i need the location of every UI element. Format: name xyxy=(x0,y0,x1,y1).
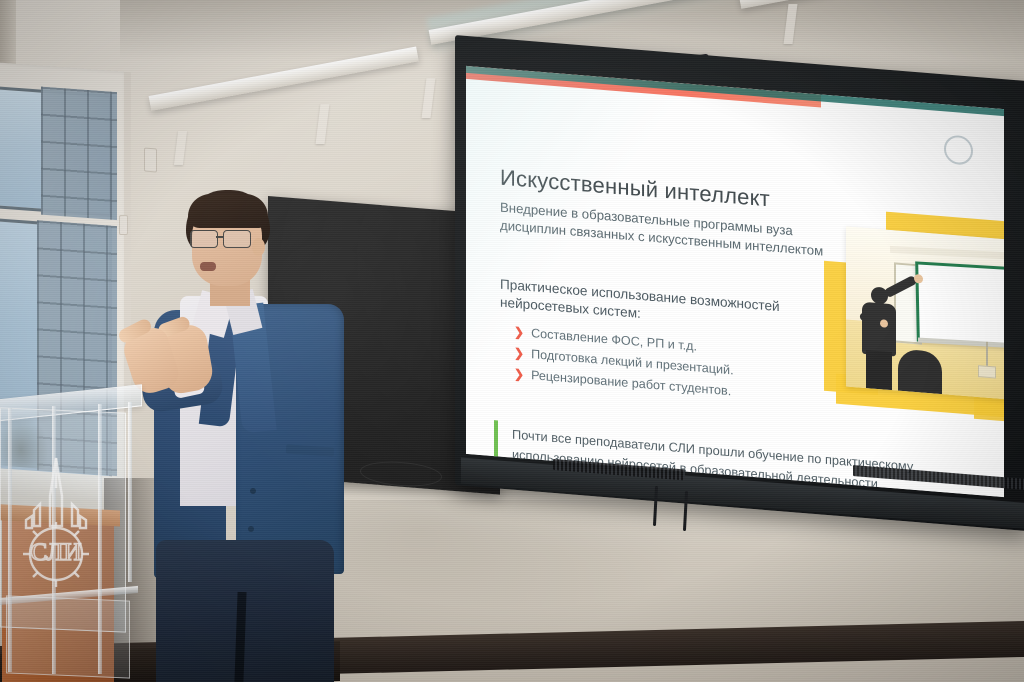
photo-interactive-whiteboard xyxy=(915,261,1004,348)
chevron-right-icon: ❯ xyxy=(514,364,524,386)
chevron-right-icon: ❯ xyxy=(514,343,524,365)
photo-cable xyxy=(986,342,988,368)
presenter-hair-front xyxy=(188,194,268,228)
presenter-mouth xyxy=(200,262,216,271)
photo-person-hand-second xyxy=(880,319,888,328)
sli-emblem-letters: СЛИ xyxy=(30,539,81,566)
photo-socket xyxy=(978,365,996,378)
eyeglass-lens-left xyxy=(190,230,218,248)
eyeglass-bridge xyxy=(216,236,223,238)
interactive-display-panel[interactable]: Искусственный интеллект Внедрение в обра… xyxy=(455,35,1024,531)
slide-photo xyxy=(824,207,1004,434)
slide-paragraph-1: Внедрение в образовательные программы ву… xyxy=(500,199,830,261)
photo-person-hand xyxy=(914,274,923,284)
presenter-jacket-button xyxy=(250,488,256,494)
eyeglass-lens-right xyxy=(223,230,251,248)
facade-grid xyxy=(41,87,117,221)
presentation-slide: Искусственный интеллект Внедрение в обра… xyxy=(466,66,1004,497)
lecture-room-screenshot: Искусственный интеллект Внедрение в обра… xyxy=(0,0,1024,682)
photo-person-legs xyxy=(866,350,892,390)
sli-emblem-icon: СЛИ xyxy=(4,454,108,594)
eyeglasses-icon xyxy=(190,230,256,246)
lectern-lower-panel xyxy=(6,595,130,678)
acrylic-lectern[interactable]: СЛИ xyxy=(0,392,146,682)
presenter-jacket-button xyxy=(248,526,254,532)
photo-content xyxy=(846,226,1004,402)
photo-person-body xyxy=(862,302,896,357)
wall-shadow xyxy=(300,500,700,650)
display-screen[interactable]: Искусственный интеллект Внедрение в обра… xyxy=(466,66,1004,497)
chevron-right-icon: ❯ xyxy=(514,322,524,344)
lectern-post xyxy=(128,402,132,582)
presenter xyxy=(118,188,348,682)
wall-switch[interactable] xyxy=(144,148,157,173)
window-pane-top xyxy=(0,86,112,217)
circle-outline-icon xyxy=(944,134,973,165)
building-facade xyxy=(41,87,117,221)
